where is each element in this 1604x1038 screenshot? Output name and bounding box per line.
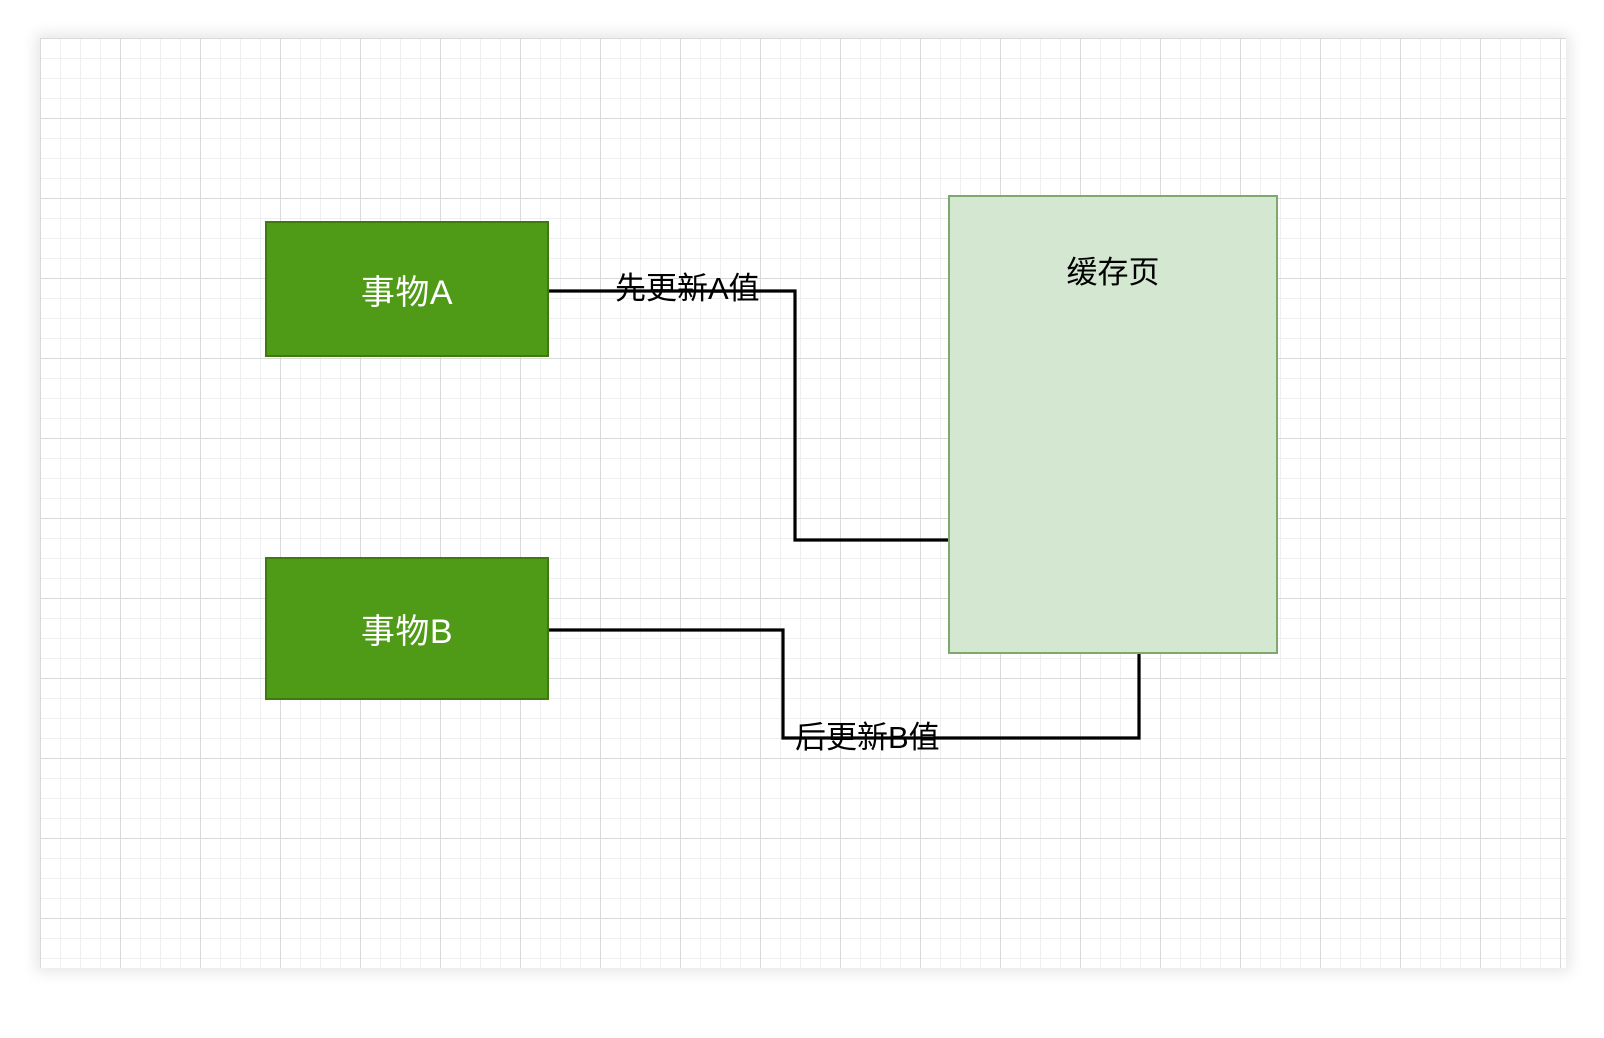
cache-page-title: 缓存页 <box>950 247 1276 292</box>
diagram-stage: 事物A 事物B 缓存页 一行数据 一行数据 B值 先更新A值 后更新B值 <box>0 0 1604 1038</box>
edge-label-update-a-first[interactable]: 先更新A值 <box>615 273 760 304</box>
edge-label-update-b-after[interactable]: 后更新B值 <box>795 722 940 753</box>
node-thing-a-label: 事物A <box>361 265 453 314</box>
node-thing-b[interactable]: 事物B <box>265 557 549 700</box>
node-cache-page[interactable]: 缓存页 一行数据 一行数据 B值 <box>948 195 1278 654</box>
node-thing-a[interactable]: 事物A <box>265 221 549 357</box>
node-thing-b-label: 事物B <box>361 604 453 653</box>
diagram-canvas[interactable] <box>40 38 1566 968</box>
